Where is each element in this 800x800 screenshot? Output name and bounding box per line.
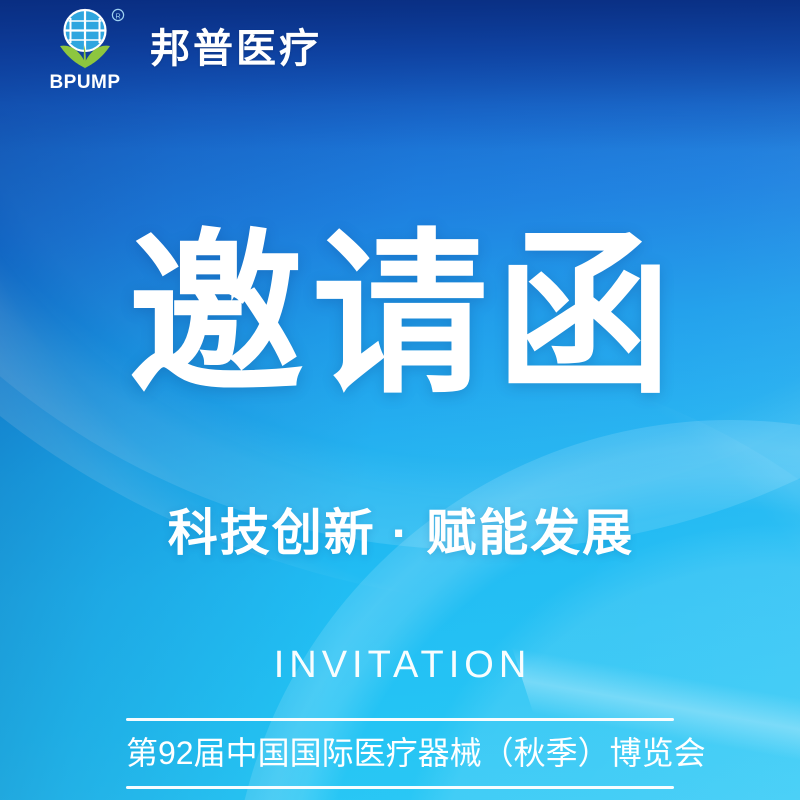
- logo-wordmark: BPUMP: [49, 72, 120, 92]
- registered-mark-icon: R: [112, 9, 123, 20]
- company-name: 邦普医疗: [150, 29, 322, 69]
- poster-content: 邀请函 科技创新 · 赋能发展 INVITATION: [0, 0, 800, 800]
- page-title: 邀请函: [0, 228, 800, 404]
- bpump-logo: R BPUMP: [44, 6, 128, 92]
- poster-subtitle: 科技创新 · 赋能发展: [0, 508, 800, 558]
- event-name: 第92届中国国际医疗器械（秋季）博览会: [126, 721, 674, 786]
- svg-text:R: R: [115, 11, 120, 20]
- brand-header: R BPUMP 邦普医疗: [44, 6, 322, 92]
- invitation-poster: R BPUMP 邦普医疗 邀请函 科技创新 · 赋能发展 INVITATION …: [0, 0, 800, 800]
- footer-band: 第92届中国国际医疗器械（秋季）博览会: [126, 718, 674, 789]
- divider-bottom: [126, 786, 674, 789]
- invitation-english-label: INVITATION: [0, 646, 800, 684]
- logo-emblem-icon: [65, 10, 106, 51]
